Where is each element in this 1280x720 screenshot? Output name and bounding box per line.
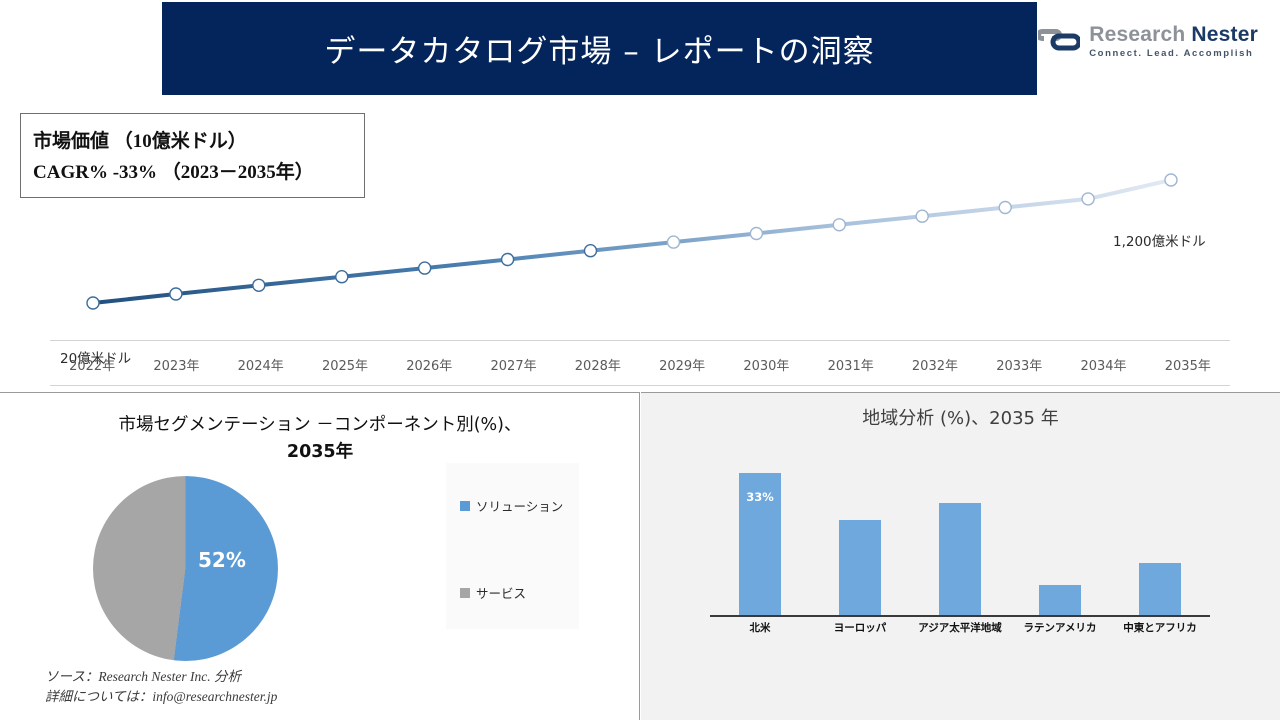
year-tick-label: 2032年 bbox=[893, 355, 977, 379]
bar-column bbox=[810, 460, 910, 615]
line-data-point bbox=[502, 254, 514, 266]
logo-chain-icon bbox=[1038, 24, 1080, 58]
legend-label-solution: ソリューション bbox=[476, 496, 563, 515]
line-chart-axis bbox=[50, 340, 1230, 341]
line-data-point bbox=[253, 279, 265, 291]
source-note: ソース：Research Nester Inc. 分析 詳細については：info… bbox=[45, 667, 277, 708]
line-data-point bbox=[833, 219, 845, 231]
year-tick-label: 2027年 bbox=[471, 355, 555, 379]
bar-chart-category-axis: 北米ヨーロッパアジア太平洋地域ラテンアメリカ中東とアフリカ bbox=[710, 620, 1210, 635]
bar-category-label: ラテンアメリカ bbox=[1010, 620, 1110, 635]
segmentation-title-line2: 2035年 bbox=[287, 442, 353, 462]
line-data-point bbox=[170, 288, 182, 300]
bar bbox=[1139, 563, 1181, 615]
bar-category-label: 北米 bbox=[710, 620, 810, 635]
line-data-point bbox=[1082, 193, 1094, 205]
component-pie-chart: 52% bbox=[93, 476, 278, 661]
segmentation-chart-title: 市場セグメンテーション －コンポーネント別(%)、 2035年 bbox=[60, 412, 580, 466]
legend-swatch-gray bbox=[460, 588, 470, 598]
line-data-point bbox=[999, 202, 1011, 214]
year-tick-label: 2034年 bbox=[1061, 355, 1145, 379]
source-line2: 詳細については：info@researchnester.jp bbox=[45, 687, 277, 707]
bar-chart-axis bbox=[710, 615, 1210, 617]
line-data-point bbox=[336, 271, 348, 283]
bar bbox=[1039, 585, 1081, 615]
report-page: データカタログ市場 – レポートの洞察 Research Nester Conn… bbox=[0, 0, 1280, 720]
bar bbox=[839, 520, 881, 615]
segmentation-title-line1: 市場セグメンテーション －コンポーネント別(%)、 bbox=[119, 415, 522, 435]
bar-column bbox=[1010, 460, 1110, 615]
year-tick-label: 2030年 bbox=[724, 355, 808, 379]
year-tick-label: 2029年 bbox=[640, 355, 724, 379]
legend-swatch-blue bbox=[460, 501, 470, 511]
year-tick-label: 2031年 bbox=[809, 355, 893, 379]
page-title: データカタログ市場 – レポートの洞察 bbox=[324, 26, 874, 71]
year-tick-label: 2025年 bbox=[303, 355, 387, 379]
bar-column bbox=[910, 460, 1010, 615]
brand-logo: Research Nester Connect. Lead. Accomplis… bbox=[1038, 24, 1258, 59]
logo-text: Research Nester Connect. Lead. Accomplis… bbox=[1089, 24, 1258, 59]
line-series-svg bbox=[0, 100, 1280, 390]
legend-item-service: サービス bbox=[460, 583, 526, 602]
bar-category-label: アジア太平洋地域 bbox=[910, 620, 1010, 635]
line-chart-bottom-rule bbox=[50, 385, 1230, 386]
line-data-point bbox=[916, 210, 928, 222]
regional-bar-chart: 33% bbox=[710, 460, 1210, 615]
bar-value-label: 33% bbox=[739, 490, 781, 504]
legend-item-solution: ソリューション bbox=[460, 496, 563, 515]
bar-column: 33% bbox=[710, 460, 810, 615]
logo-word-nester: Nester bbox=[1191, 23, 1258, 46]
year-tick-label: 2033年 bbox=[977, 355, 1061, 379]
header-banner: データカタログ市場 – レポートの洞察 bbox=[162, 2, 1037, 95]
line-data-point bbox=[419, 262, 431, 274]
year-tick-label: 2026年 bbox=[387, 355, 471, 379]
pie-value-label: 52% bbox=[198, 548, 246, 572]
logo-tagline: Connect. Lead. Accomplish bbox=[1089, 49, 1258, 59]
year-tick-label: 2035年 bbox=[1146, 355, 1230, 379]
pie-slices bbox=[93, 476, 278, 661]
year-tick-label: 2023年 bbox=[134, 355, 218, 379]
source-line1: ソース：Research Nester Inc. 分析 bbox=[45, 667, 277, 687]
line-data-point bbox=[87, 297, 99, 309]
legend-label-service: サービス bbox=[476, 583, 526, 602]
line-data-point bbox=[750, 228, 762, 240]
regional-chart-title: 地域分析 (%)、2035 年 bbox=[641, 404, 1280, 430]
bar-column bbox=[1110, 460, 1210, 615]
pie-legend-box bbox=[446, 463, 579, 629]
bar-category-label: ヨーロッパ bbox=[810, 620, 910, 635]
line-data-point bbox=[668, 236, 680, 248]
market-growth-line-chart: 20億米ドル 1,200億米ドル bbox=[0, 100, 1280, 390]
year-tick-label: 2022年 bbox=[50, 355, 134, 379]
year-tick-label: 2028年 bbox=[556, 355, 640, 379]
line-chart-year-axis: 2022年2023年2024年2025年2026年2027年2028年2029年… bbox=[50, 355, 1230, 379]
line-data-point bbox=[585, 245, 597, 257]
bar: 33% bbox=[739, 473, 781, 615]
year-tick-label: 2024年 bbox=[219, 355, 303, 379]
line-data-point bbox=[1165, 174, 1177, 186]
bar bbox=[939, 503, 981, 615]
bar-category-label: 中東とアフリカ bbox=[1110, 620, 1210, 635]
logo-word-research: Research bbox=[1089, 23, 1185, 46]
